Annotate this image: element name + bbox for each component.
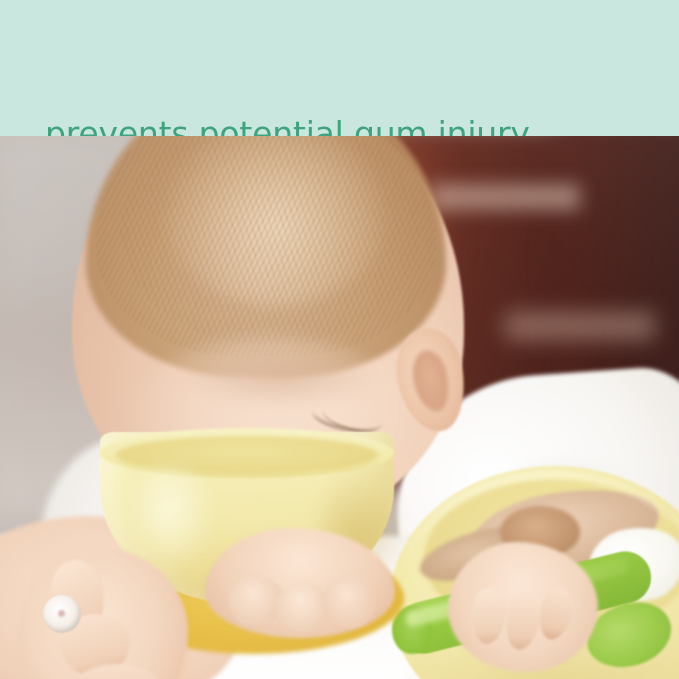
chair-slat-lower: [505, 312, 655, 340]
cereal-puff-hole: [58, 610, 65, 617]
baby-finger-knuckle-3: [322, 576, 376, 628]
chair-slat-upper: [430, 184, 580, 210]
product-feature-image: prevents potential gum injury & protects…: [0, 0, 679, 679]
feature-banner: prevents potential gum injury & protects…: [0, 0, 679, 136]
lifestyle-photo: [0, 136, 679, 679]
baby-brow-shadow: [180, 346, 380, 406]
